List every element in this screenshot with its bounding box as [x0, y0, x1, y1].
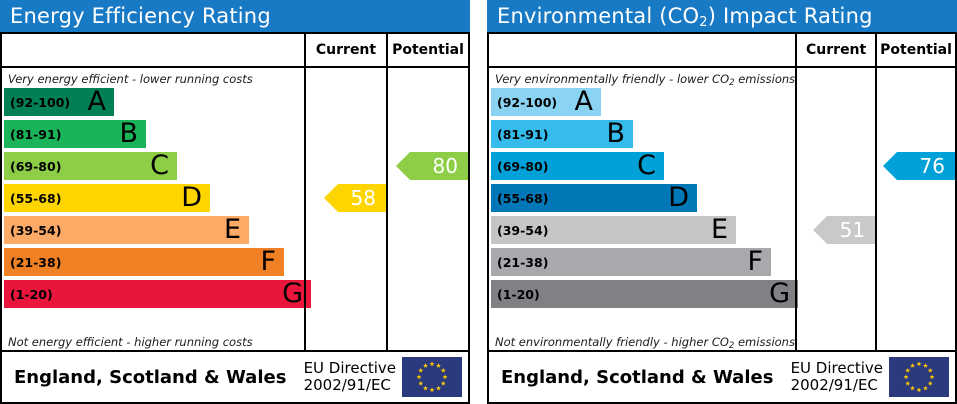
environmental-note-top-prefix: Very environmentally friendly - lower CO	[495, 72, 729, 86]
band-range-g: (1-20)	[491, 287, 540, 302]
environmental-current-column: Current 51	[795, 34, 875, 350]
energy-directive-line1: EU Directive	[304, 360, 396, 377]
environmental-potential-spacer-bottom	[877, 331, 955, 350]
environmental-impact-rating-panel: Environmental (CO2) Impact Rating Very e…	[487, 0, 957, 404]
band-row-g: (1-20)G	[491, 280, 798, 308]
band-row-a: (92-100)A	[491, 88, 601, 116]
energy-potential-column: Potential 80	[386, 34, 468, 350]
band-letter-f: F	[260, 248, 276, 275]
band-range-a: (92-100)	[4, 95, 70, 110]
band-letter-g: G	[282, 280, 303, 307]
environmental-potential-spacer-top	[877, 68, 955, 87]
band-range-c: (69-80)	[4, 159, 61, 174]
energy-efficiency-rating-panel: Energy Efficiency Rating Very energy eff…	[0, 0, 470, 404]
band-letter-b: B	[119, 120, 138, 147]
environmental-note-top: Very environmentally friendly - lower CO…	[489, 68, 795, 87]
band-letter-c: C	[637, 152, 656, 179]
band-letter-b: B	[606, 120, 625, 147]
band-range-f: (21-38)	[4, 255, 61, 270]
band-row-d: (55-68)D	[4, 184, 210, 212]
environmental-potential-header: Potential	[877, 34, 955, 68]
band-letter-d: D	[668, 184, 689, 211]
energy-footer: England, Scotland & Wales EU Directive 2…	[0, 352, 470, 404]
band-letter-d: D	[181, 184, 202, 211]
band-row-b: (81-91)B	[4, 120, 146, 148]
environmental-impact-table: Very environmentally friendly - lower CO…	[487, 32, 957, 352]
band-row-b: (81-91)B	[491, 120, 633, 148]
band-range-b: (81-91)	[4, 127, 61, 142]
environmental-footer-directive: EU Directive 2002/91/EC	[791, 360, 889, 394]
band-range-d: (55-68)	[491, 191, 548, 206]
environmental-current-spacer-bottom	[797, 331, 875, 350]
epc-charts-container: Energy Efficiency Rating Very energy eff…	[0, 0, 957, 404]
environmental-footer-region: England, Scotland & Wales	[489, 367, 791, 388]
potential-rating-arrow: 76	[883, 152, 955, 180]
environmental-title-subscript: 2	[699, 15, 707, 30]
energy-efficiency-title: Energy Efficiency Rating	[0, 0, 470, 32]
energy-potential-header: Potential	[388, 34, 468, 68]
environmental-note-bottom-prefix: Not environmentally friendly - higher CO	[495, 335, 729, 349]
band-range-g: (1-20)	[4, 287, 53, 302]
environmental-band-list: (92-100)A(81-91)B(69-80)C(55-68)D(39-54)…	[489, 87, 795, 331]
energy-note-top: Very energy efficient - lower running co…	[2, 68, 304, 87]
band-row-e: (39-54)E	[491, 216, 736, 244]
environmental-potential-column: Potential 76	[875, 34, 955, 350]
energy-current-arrow-slot: 58	[306, 87, 386, 331]
band-letter-a: A	[88, 88, 106, 115]
environmental-current-header: Current	[797, 34, 875, 68]
band-range-d: (55-68)	[4, 191, 61, 206]
potential-rating-arrow: 80	[396, 152, 468, 180]
band-range-e: (39-54)	[4, 223, 61, 238]
band-row-c: (69-80)C	[491, 152, 664, 180]
environmental-directive-line1: EU Directive	[791, 360, 883, 377]
environmental-footer: England, Scotland & Wales EU Directive 2…	[487, 352, 957, 404]
energy-efficiency-title-text: Energy Efficiency Rating	[10, 4, 271, 28]
energy-footer-region: England, Scotland & Wales	[2, 367, 304, 388]
current-rating-arrow: 58	[324, 184, 386, 212]
band-range-b: (81-91)	[491, 127, 548, 142]
environmental-potential-arrow-slot: 76	[877, 87, 955, 331]
band-letter-g: G	[769, 280, 790, 307]
band-range-c: (69-80)	[491, 159, 548, 174]
band-range-a: (92-100)	[491, 95, 557, 110]
energy-note-bottom: Not energy efficient - higher running co…	[2, 331, 304, 350]
energy-current-spacer-bottom	[306, 331, 386, 350]
energy-current-spacer-top	[306, 68, 386, 87]
environmental-impact-title: Environmental (CO2) Impact Rating	[487, 0, 957, 32]
environmental-bands-header-blank	[489, 34, 795, 68]
band-letter-e: E	[711, 216, 728, 243]
environmental-directive-line2: 2002/91/EC	[791, 377, 883, 394]
environmental-note-bottom: Not environmentally friendly - higher CO…	[489, 331, 795, 350]
band-row-a: (92-100)A	[4, 88, 114, 116]
energy-directive-line2: 2002/91/EC	[304, 377, 396, 394]
band-letter-c: C	[150, 152, 169, 179]
environmental-title-prefix: Environmental (CO	[497, 4, 699, 28]
eu-flag-icon	[402, 357, 462, 397]
band-row-e: (39-54)E	[4, 216, 249, 244]
band-range-f: (21-38)	[491, 255, 548, 270]
energy-efficiency-table-body: Very energy efficient - lower running co…	[2, 34, 468, 350]
band-row-g: (1-20)G	[4, 280, 311, 308]
environmental-note-bottom-subscript: 2	[729, 341, 734, 351]
band-row-c: (69-80)C	[4, 152, 177, 180]
energy-band-list: (92-100)A(81-91)B(69-80)C(55-68)D(39-54)…	[2, 87, 304, 331]
band-letter-a: A	[575, 88, 593, 115]
environmental-note-bottom-suffix: emissions	[734, 335, 795, 349]
band-letter-e: E	[224, 216, 241, 243]
energy-efficiency-table: Very energy efficient - lower running co…	[0, 32, 470, 352]
band-row-d: (55-68)D	[491, 184, 697, 212]
band-row-f: (21-38)F	[491, 248, 771, 276]
energy-bands-header-blank	[2, 34, 304, 68]
environmental-title-suffix: ) Impact Rating	[708, 4, 873, 28]
energy-current-header: Current	[306, 34, 386, 68]
eu-flag-icon	[889, 357, 949, 397]
band-row-f: (21-38)F	[4, 248, 284, 276]
energy-potential-arrow-slot: 80	[388, 87, 468, 331]
environmental-current-arrow-slot: 51	[797, 87, 875, 331]
energy-footer-directive: EU Directive 2002/91/EC	[304, 360, 402, 394]
energy-bands-column: Very energy efficient - lower running co…	[2, 34, 304, 350]
energy-potential-spacer-bottom	[388, 331, 468, 350]
environmental-table-body: Very environmentally friendly - lower CO…	[489, 34, 955, 350]
band-letter-f: F	[747, 248, 763, 275]
energy-potential-spacer-top	[388, 68, 468, 87]
energy-current-column: Current 58	[304, 34, 386, 350]
environmental-note-top-suffix: emissions	[735, 72, 796, 86]
environmental-bands-column: Very environmentally friendly - lower CO…	[489, 34, 795, 350]
environmental-current-spacer-top	[797, 68, 875, 87]
band-range-e: (39-54)	[491, 223, 548, 238]
current-rating-arrow: 51	[813, 216, 875, 244]
